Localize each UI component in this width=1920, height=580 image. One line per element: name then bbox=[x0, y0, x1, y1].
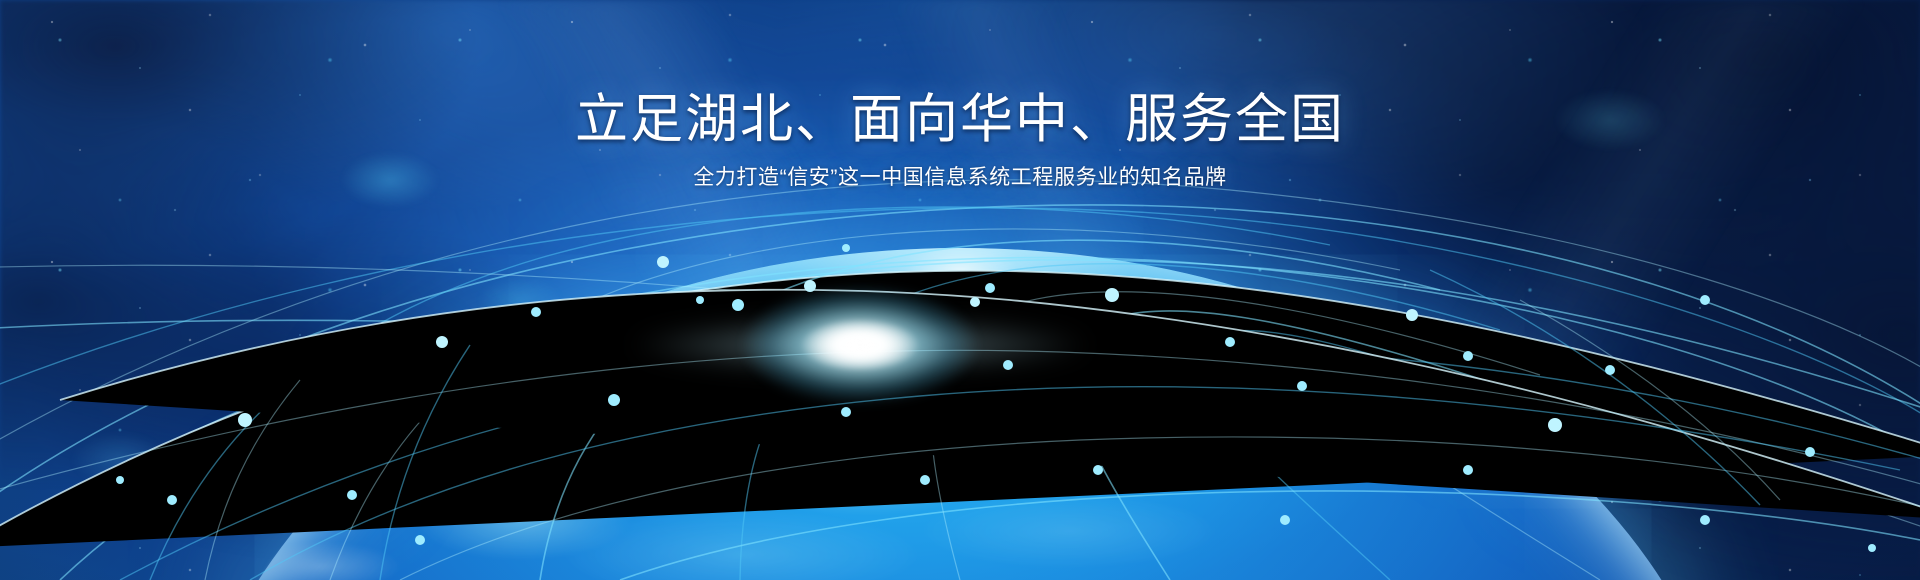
vignette-overlay bbox=[0, 0, 1920, 580]
banner-copy: 立足湖北、面向华中、服务全国 全力打造“信安”这一中国信息系统工程服务业的知名品… bbox=[0, 92, 1920, 191]
hero-banner: 立足湖北、面向华中、服务全国 全力打造“信安”这一中国信息系统工程服务业的知名品… bbox=[0, 0, 1920, 580]
banner-subheadline: 全力打造“信安”这一中国信息系统工程服务业的知名品牌 bbox=[0, 165, 1920, 191]
banner-headline: 立足湖北、面向华中、服务全国 bbox=[0, 92, 1920, 148]
